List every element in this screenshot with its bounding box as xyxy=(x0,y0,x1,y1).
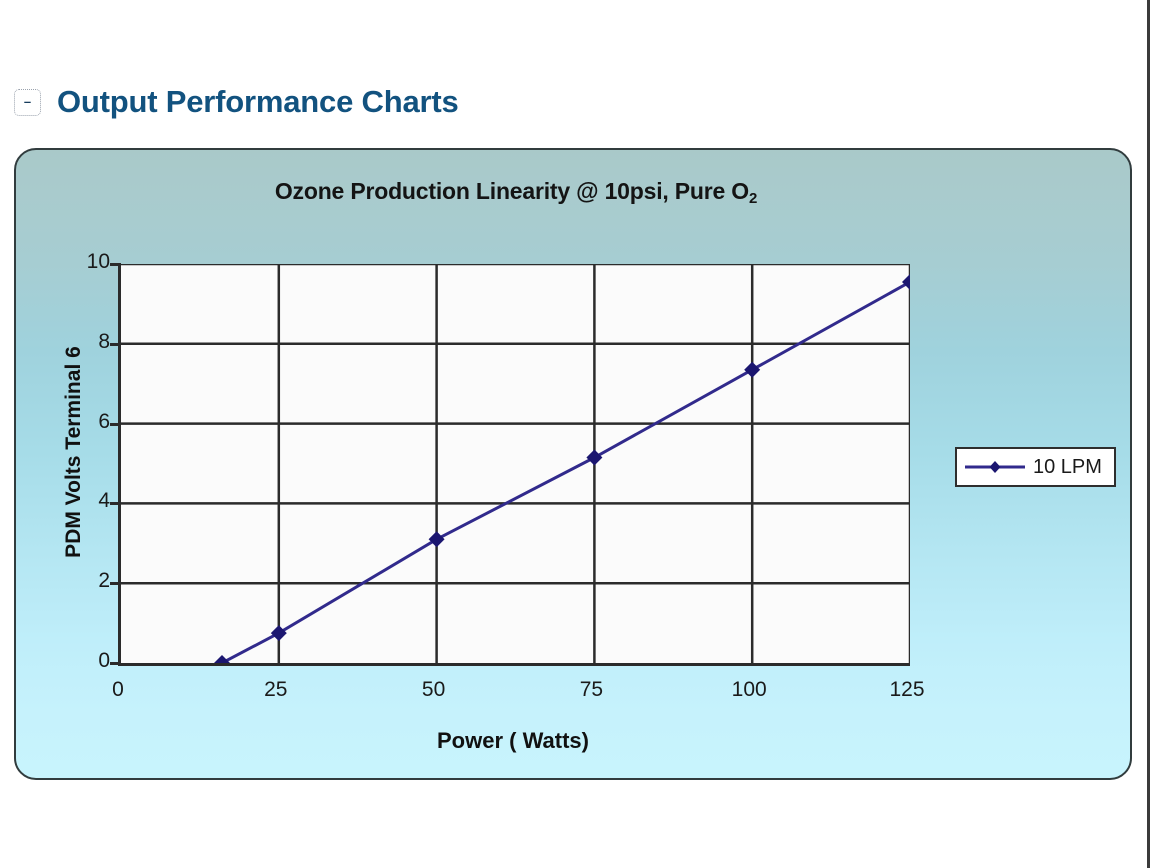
chart-title-text: Ozone Production Linearity @ 10psi, Pure… xyxy=(275,178,749,204)
legend-label-10-lpm: 10 LPM xyxy=(1033,456,1102,479)
chart-title-subscript: 2 xyxy=(749,190,757,207)
plot-area xyxy=(118,264,910,666)
chart-title: Ozone Production Linearity @ 10psi, Pure… xyxy=(16,178,1016,205)
y-tick-label: 8 xyxy=(64,330,110,354)
x-axis-tick-labels: 0255075100125 xyxy=(118,678,907,708)
y-tick-label: 4 xyxy=(64,489,110,513)
x-tick-label: 25 xyxy=(236,678,316,702)
section-header: – Output Performance Charts xyxy=(14,84,459,120)
x-tick-label: 50 xyxy=(394,678,474,702)
y-tick-label: 6 xyxy=(64,410,110,434)
y-tick-label: 10 xyxy=(64,250,110,274)
y-tick-label: 0 xyxy=(64,649,110,673)
x-tick-label: 100 xyxy=(709,678,789,702)
minus-icon: – xyxy=(24,97,31,107)
x-axis-title: Power ( Watts) xyxy=(118,728,908,754)
chart-card: Ozone Production Linearity @ 10psi, Pure… xyxy=(14,148,1132,780)
collapse-section-button[interactable]: – xyxy=(14,89,41,116)
chart-legend[interactable]: 10 LPM xyxy=(955,447,1116,487)
y-tick-label: 2 xyxy=(64,569,110,593)
legend-line-marker-icon xyxy=(965,460,1025,474)
x-tick-label: 0 xyxy=(78,678,158,702)
x-tick-label: 75 xyxy=(551,678,631,702)
page-right-divider xyxy=(1147,0,1150,868)
x-tick-label: 125 xyxy=(867,678,947,702)
legend-swatch-10-lpm xyxy=(965,460,1025,474)
page-title: Output Performance Charts xyxy=(57,84,459,120)
chart-plot-svg xyxy=(121,264,910,663)
y-axis-tick-labels: 0246810 xyxy=(56,264,110,663)
